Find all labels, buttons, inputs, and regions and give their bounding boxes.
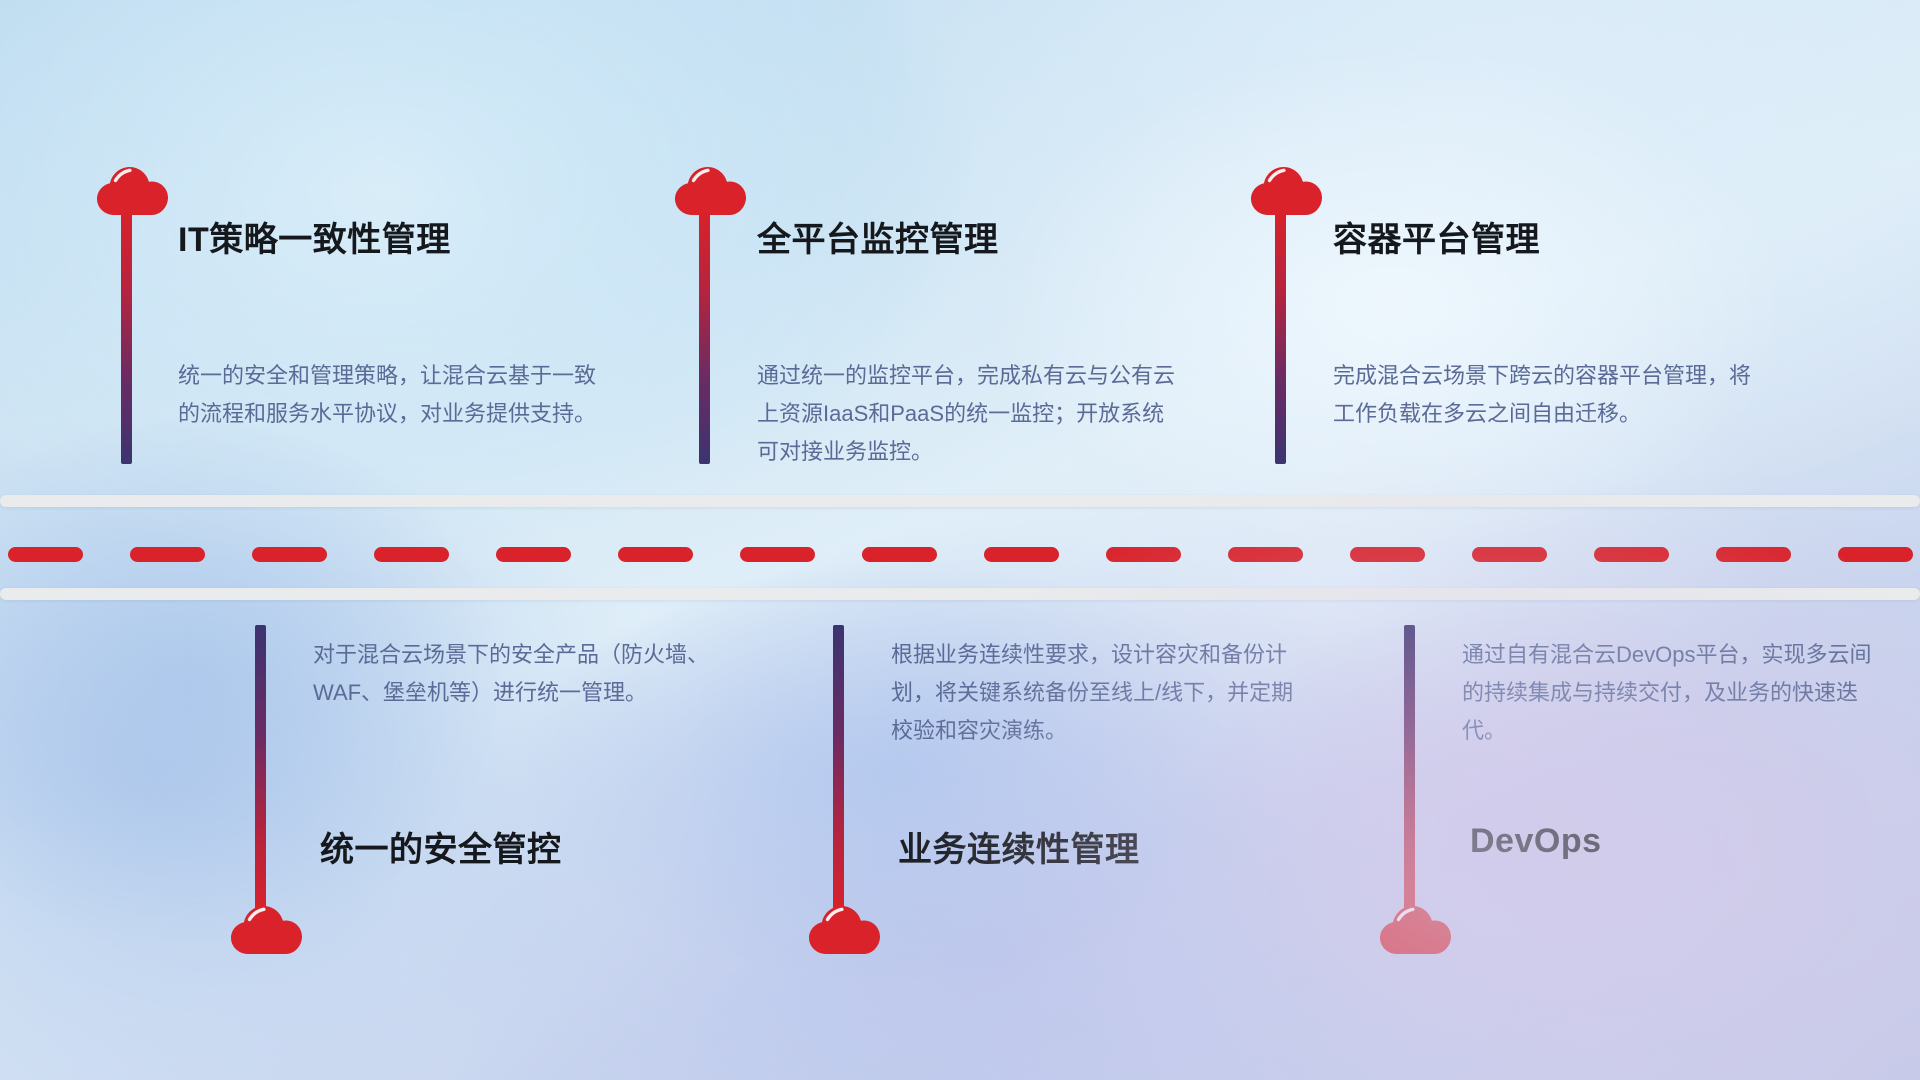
road-dash — [1350, 547, 1425, 562]
road-dash — [740, 547, 815, 562]
road-dash — [984, 547, 1059, 562]
road-dash — [8, 547, 83, 562]
road-dash — [1106, 547, 1181, 562]
card-body: 完成混合云场景下跨云的容器平台管理，将工作负载在多云之间自由迁移。 — [1333, 357, 1753, 433]
card-heading: IT策略一致性管理 — [178, 212, 451, 261]
road-dash — [1594, 547, 1669, 562]
timeline-stalk — [699, 212, 710, 464]
road-dash — [374, 547, 449, 562]
card-body: 根据业务连续性要求，设计容灾和备份计划，将关键系统备份至线上/线下，并定期校验和… — [891, 636, 1311, 750]
card-body: 通过统一的监控平台，完成私有云与公有云上资源IaaS和PaaS的统一监控；开放系… — [757, 357, 1177, 471]
card-heading: 统一的安全管控 — [320, 822, 562, 871]
road-dash — [862, 547, 937, 562]
infographic-canvas: IT策略一致性管理 统一的安全和管理策略，让混合云基于一致的流程和服务水平协议，… — [0, 0, 1920, 1080]
cloud-icon — [804, 897, 882, 955]
card-body: 对于混合云场景下的安全产品（防火墙、WAF、堡垒机等）进行统一管理。 — [313, 636, 733, 712]
card-heading: DevOps — [1470, 822, 1602, 861]
card-heading: 容器平台管理 — [1333, 212, 1540, 261]
timeline-stalk — [255, 625, 266, 913]
timeline-stalk — [121, 212, 132, 464]
background-glow-center — [520, 560, 1280, 980]
background-glow-top-right — [980, 40, 1800, 560]
timeline-stalk — [833, 625, 844, 913]
cloud-icon — [1246, 158, 1324, 216]
road-dash — [1472, 547, 1547, 562]
road-dash — [618, 547, 693, 562]
road-dash — [130, 547, 205, 562]
cloud-icon — [1375, 897, 1453, 955]
road-dash — [1228, 547, 1303, 562]
lane-line-top — [0, 495, 1920, 507]
dashed-center-line — [0, 546, 1920, 562]
lane-line-bottom — [0, 588, 1920, 600]
cloud-icon — [92, 158, 170, 216]
road-dash — [1838, 547, 1913, 562]
timeline-stalk — [1404, 625, 1415, 913]
cloud-icon — [226, 897, 304, 955]
card-heading: 业务连续性管理 — [898, 822, 1140, 871]
road-dash — [496, 547, 571, 562]
cloud-icon — [670, 158, 748, 216]
road-dash — [252, 547, 327, 562]
timeline-stalk — [1275, 212, 1286, 464]
card-heading: 全平台监控管理 — [757, 212, 999, 261]
card-body: 通过自有混合云DevOps平台，实现多云间的持续集成与持续交付，及业务的快速迭代… — [1462, 636, 1874, 750]
road-dash — [1716, 547, 1791, 562]
card-body: 统一的安全和管理策略，让混合云基于一致的流程和服务水平协议，对业务提供支持。 — [178, 357, 598, 433]
